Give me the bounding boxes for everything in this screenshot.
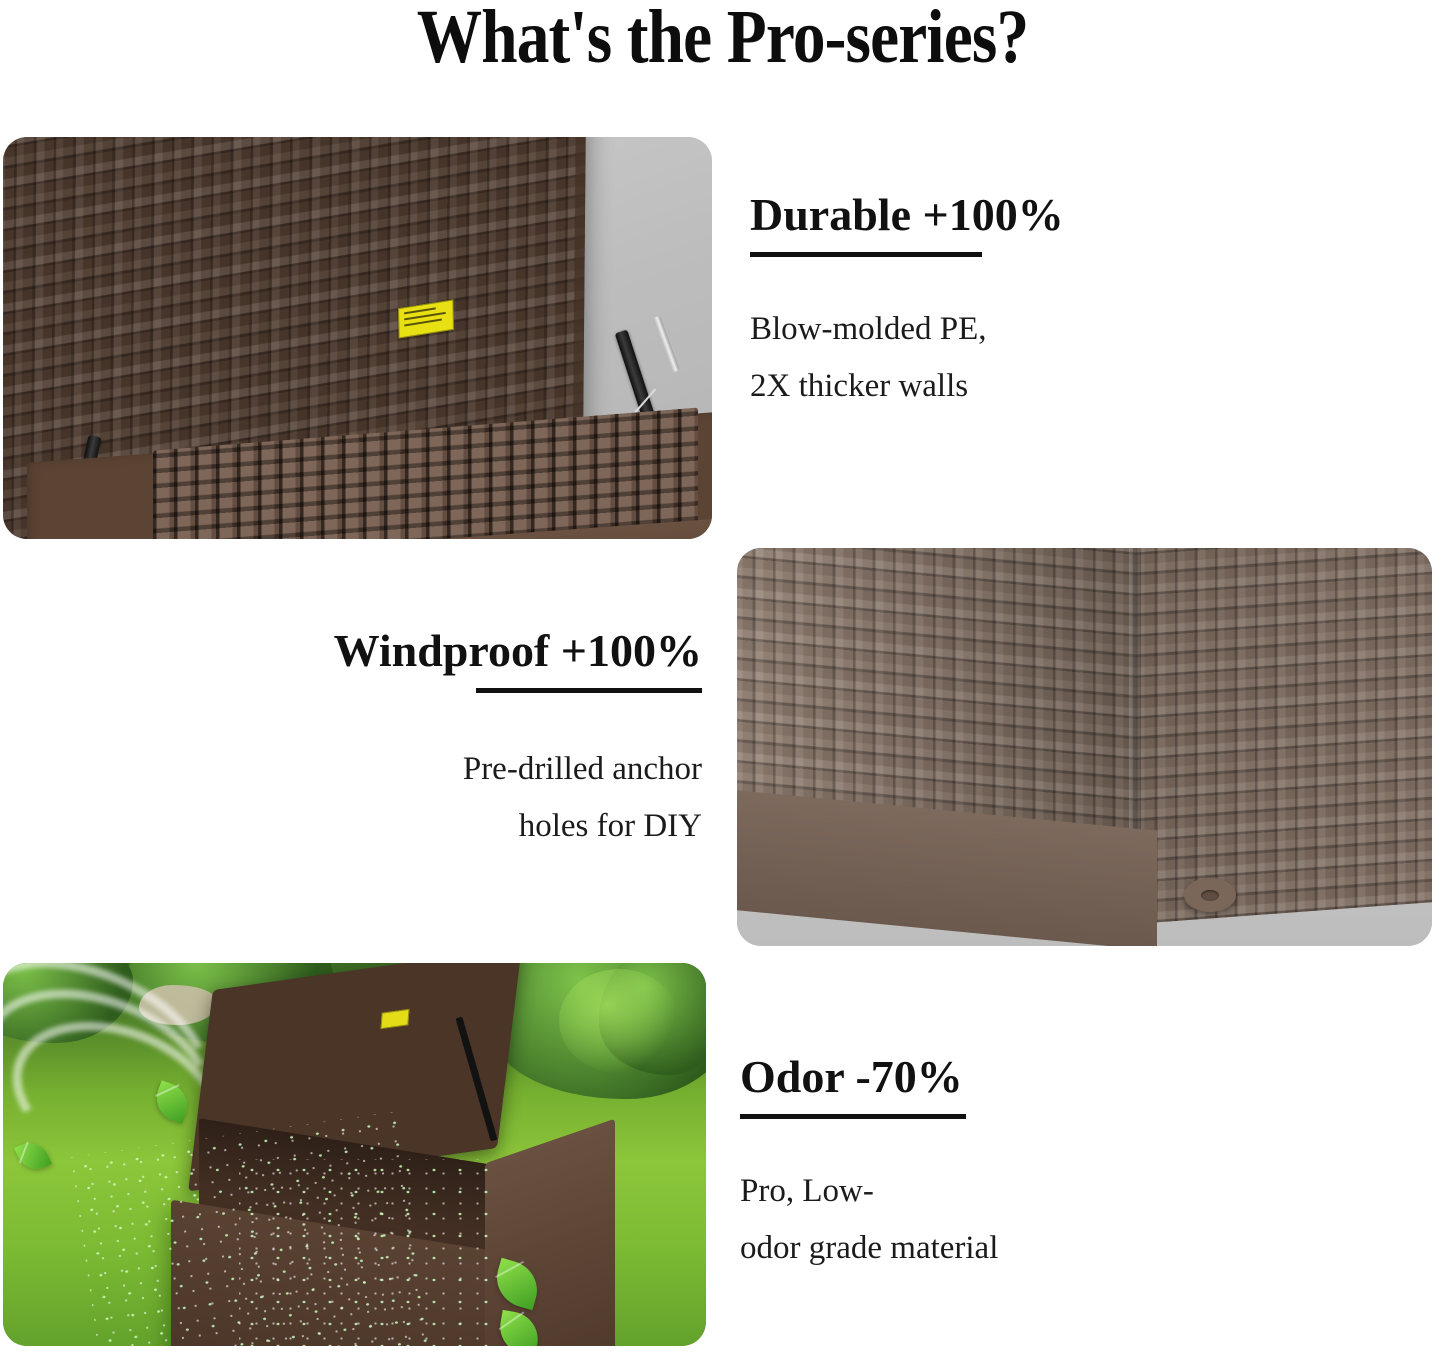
product-image-lifestyle	[3, 963, 706, 1346]
feature-windproof-body: Pre-drilled anchor holes for DIY	[240, 741, 702, 855]
feature-odor-body: Pro, Low- odor grade material	[740, 1163, 1210, 1277]
anchor-hole-tab	[1184, 878, 1236, 912]
feature-durable: Durable +100% Blow-molded PE, 2X thicker…	[750, 192, 1220, 415]
feature-durable-body-line-1: Blow-molded PE,	[750, 301, 1220, 358]
product-image-corner-detail	[737, 548, 1432, 946]
feature-odor-body-line-2: odor grade material	[740, 1220, 1210, 1277]
feature-durable-body-line-2: 2X thicker walls	[750, 358, 1220, 415]
feature-odor: Odor -70% Pro, Low- odor grade material	[740, 1054, 1210, 1277]
feature-odor-rule	[740, 1114, 966, 1119]
feature-windproof-rule	[476, 688, 702, 693]
box-side-right	[1135, 548, 1432, 924]
feature-windproof-body-line-1: Pre-drilled anchor	[240, 741, 702, 798]
side-shading	[1135, 548, 1432, 924]
page-title: What's the Pro-series?	[101, 0, 1344, 81]
feature-durable-body: Blow-molded PE, 2X thicker walls	[750, 301, 1220, 415]
product-image-open-box	[3, 137, 712, 539]
shrub-highlight	[559, 969, 679, 1073]
feature-windproof: Windproof +100% Pre-drilled anchor holes…	[240, 628, 702, 855]
feature-durable-heading: Durable +100%	[750, 192, 1220, 238]
feature-durable-rule	[750, 252, 982, 257]
feature-odor-heading: Odor -70%	[740, 1054, 1210, 1100]
feature-windproof-heading: Windproof +100%	[240, 628, 702, 674]
odor-particles	[239, 1159, 489, 1346]
feature-windproof-body-line-2: holes for DIY	[240, 798, 702, 855]
feature-odor-body-line-1: Pro, Low-	[740, 1163, 1210, 1220]
